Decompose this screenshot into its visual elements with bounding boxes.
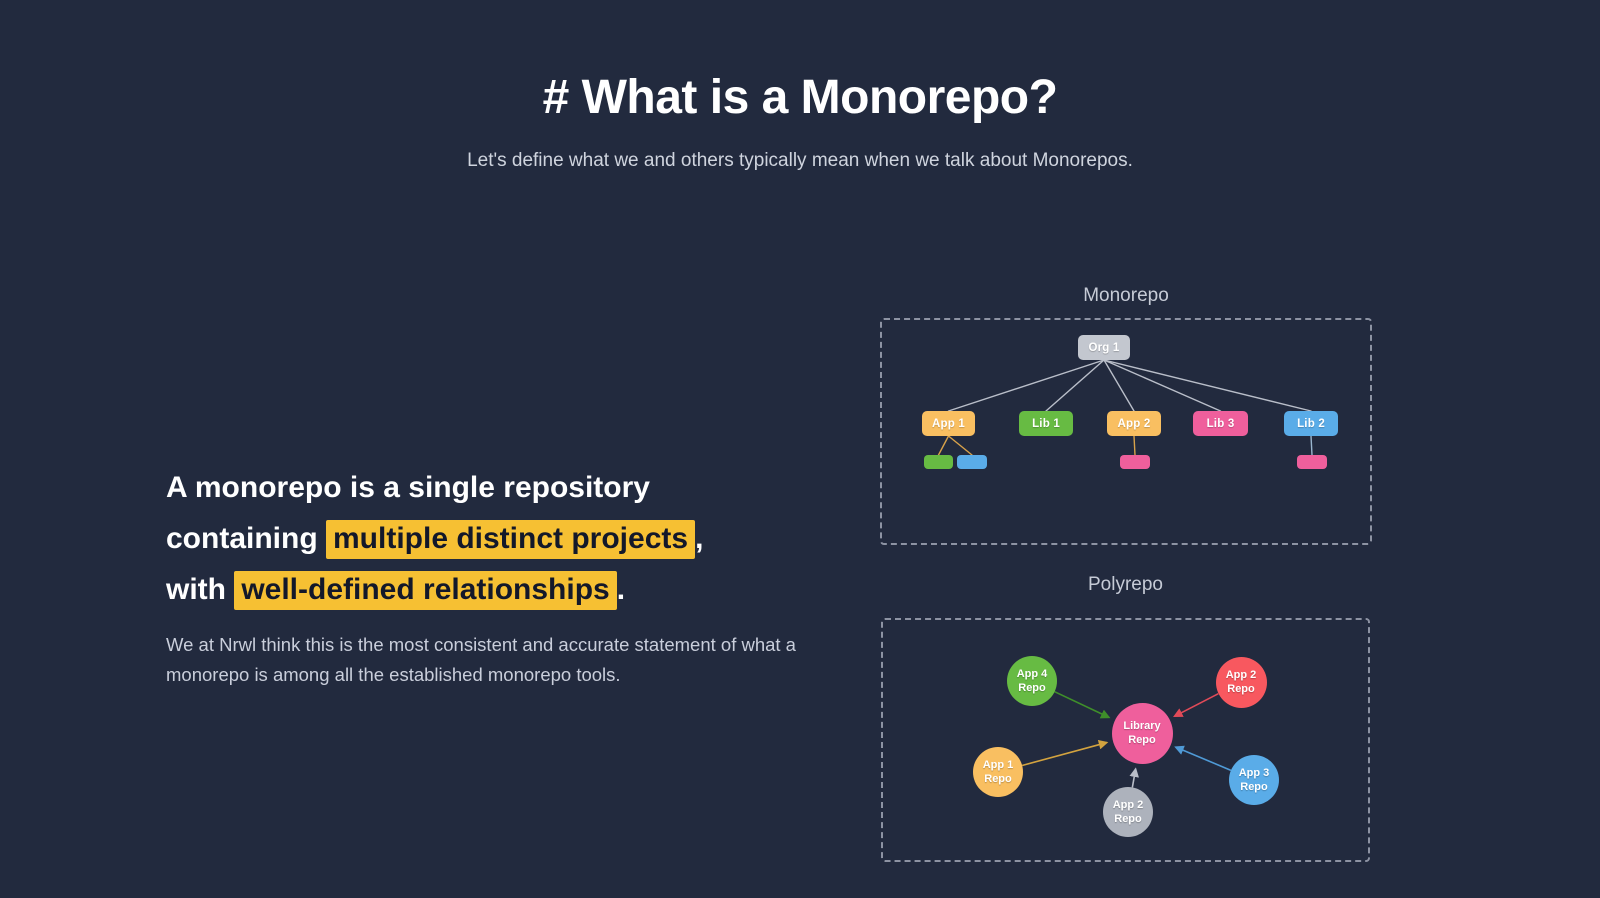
node-label-line1: App 3 bbox=[1239, 766, 1270, 780]
monorepo-node-app-1[interactable]: App 1 bbox=[922, 411, 975, 436]
monorepo-leaf-3[interactable] bbox=[1120, 455, 1150, 469]
monorepo-node-lib-3[interactable]: Lib 3 bbox=[1193, 411, 1248, 436]
node-label-line2: Repo bbox=[1128, 733, 1156, 747]
monorepo-leaf-1[interactable] bbox=[924, 455, 953, 469]
lead-line-2: containing multiple distinct projects, bbox=[166, 513, 766, 564]
monorepo-node-org-1[interactable]: Org 1 bbox=[1078, 335, 1130, 360]
node-label-line2: Repo bbox=[984, 772, 1012, 786]
lead-statement: A monorepo is a single repository contai… bbox=[166, 462, 766, 615]
node-label: Lib 2 bbox=[1297, 418, 1325, 430]
monorepo-node-lib-2[interactable]: Lib 2 bbox=[1284, 411, 1338, 436]
monorepo-leaf-2[interactable] bbox=[957, 455, 987, 469]
lead-line-1-text: A monorepo is a single repository bbox=[166, 471, 650, 504]
node-label: Lib 3 bbox=[1207, 418, 1235, 430]
polyrepo-node-app2gray[interactable]: App 2Repo bbox=[1103, 787, 1153, 837]
node-label-line1: App 1 bbox=[983, 758, 1014, 772]
polyrepo-node-app2red[interactable]: App 2Repo bbox=[1216, 657, 1267, 708]
highlight-multiple-distinct-projects: multiple distinct projects bbox=[326, 520, 695, 559]
node-label: Lib 1 bbox=[1032, 418, 1060, 430]
polyrepo-node-library[interactable]: LibraryRepo bbox=[1112, 703, 1173, 764]
body-paragraph: We at Nrwl think this is the most consis… bbox=[166, 630, 796, 690]
node-label: App 2 bbox=[1118, 418, 1151, 430]
monorepo-caption: Monorepo bbox=[880, 285, 1372, 307]
node-label-line2: Repo bbox=[1018, 681, 1046, 695]
polyrepo-node-app1[interactable]: App 1Repo bbox=[973, 747, 1023, 797]
monorepo-node-lib-1[interactable]: Lib 1 bbox=[1019, 411, 1073, 436]
monorepo-leaf-4[interactable] bbox=[1297, 455, 1327, 469]
node-label-line2: Repo bbox=[1240, 780, 1268, 794]
polyrepo-caption: Polyrepo bbox=[881, 574, 1370, 596]
monorepo-node-app-2[interactable]: App 2 bbox=[1107, 411, 1161, 436]
node-label-line1: App 2 bbox=[1226, 668, 1257, 682]
slide-root: # What is a Monorepo? Let's define what … bbox=[0, 0, 1600, 898]
polyrepo-node-app4[interactable]: App 4Repo bbox=[1007, 656, 1057, 706]
node-label-line1: App 4 bbox=[1017, 667, 1048, 681]
page-subtitle: Let's define what we and others typicall… bbox=[0, 150, 1600, 172]
node-label-line1: App 2 bbox=[1113, 798, 1144, 812]
polyrepo-node-app3[interactable]: App 3Repo bbox=[1229, 755, 1279, 805]
node-label: App 1 bbox=[932, 418, 965, 430]
node-label: Org 1 bbox=[1088, 342, 1119, 354]
node-label-line1: Library bbox=[1123, 719, 1160, 733]
lead-line-2-text: containing bbox=[166, 522, 326, 555]
highlight-well-defined-relationships: well-defined relationships bbox=[234, 571, 616, 610]
page-title: # What is a Monorepo? bbox=[0, 72, 1600, 124]
lead-line-3: with well-defined relationships. bbox=[166, 564, 766, 615]
node-label-line2: Repo bbox=[1114, 812, 1142, 826]
node-label-line2: Repo bbox=[1227, 682, 1255, 696]
lead-line-3-tail: . bbox=[617, 573, 625, 606]
lead-line-2-tail: , bbox=[695, 522, 703, 555]
lead-line-1: A monorepo is a single repository bbox=[166, 462, 766, 513]
lead-line-3-text: with bbox=[166, 573, 234, 606]
